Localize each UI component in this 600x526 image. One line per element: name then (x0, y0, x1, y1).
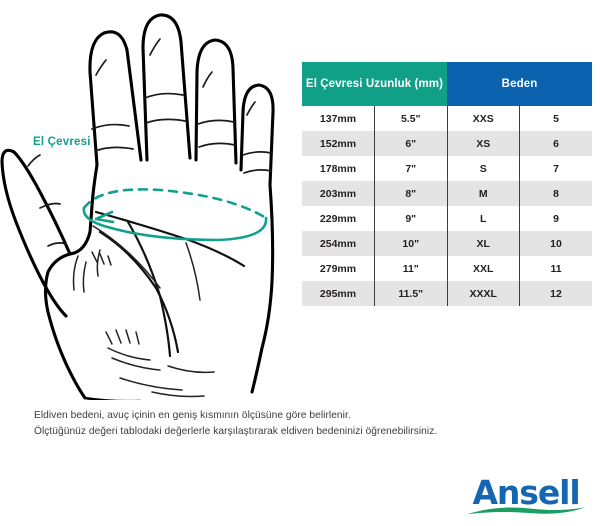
table-row: 137mm5.5"XXS5 (302, 106, 592, 131)
cell-size-letter: L (447, 206, 520, 231)
cell-circumference-mm: 279mm (302, 256, 375, 281)
cell-circumference-mm: 254mm (302, 231, 375, 256)
instructions-caption: Eldiven bedeni, avuç içinin en geniş kıs… (34, 408, 574, 440)
palm-circumference-ellipse (84, 189, 266, 240)
cell-circumference-mm: 152mm (302, 131, 375, 156)
cell-circumference-mm: 295mm (302, 281, 375, 306)
cell-size-number: 10 (520, 231, 593, 256)
hand-palm-illustration (0, 0, 292, 400)
table-row: 152mm6"XS6 (302, 131, 592, 156)
cell-size-letter: XXS (447, 106, 520, 131)
caption-line-1: Eldiven bedeni, avuç içinin en geniş kıs… (34, 408, 574, 424)
cell-circumference-mm: 137mm (302, 106, 375, 131)
cell-size-number: 6 (520, 131, 593, 156)
cell-circumference-inch: 7" (375, 156, 448, 181)
column-header-size: Beden (447, 62, 592, 106)
glove-size-chart-page: El Çevresi El Çevresi Uzunluk (mm) Beden… (0, 0, 600, 526)
cell-circumference-inch: 9" (375, 206, 448, 231)
cell-size-number: 9 (520, 206, 593, 231)
table-row: 203mm8"M8 (302, 181, 592, 206)
cell-circumference-inch: 6" (375, 131, 448, 156)
cell-size-number: 8 (520, 181, 593, 206)
table-header-row: El Çevresi Uzunluk (mm) Beden (302, 62, 592, 106)
cell-circumference-mm: 178mm (302, 156, 375, 181)
cell-circumference-inch: 11" (375, 256, 448, 281)
cell-size-letter: XXL (447, 256, 520, 281)
cell-size-letter: XL (447, 231, 520, 256)
glove-size-table: El Çevresi Uzunluk (mm) Beden 137mm5.5"X… (302, 62, 592, 306)
cell-size-letter: S (447, 156, 520, 181)
cell-circumference-inch: 10" (375, 231, 448, 256)
cell-size-letter: M (447, 181, 520, 206)
el-cevresi-callout-label: El Çevresi (33, 136, 91, 148)
cell-size-number: 11 (520, 256, 593, 281)
caption-line-2: Ölçtüğünüz değeri tablodaki değerlerle k… (34, 424, 574, 440)
table-row: 229mm9"L9 (302, 206, 592, 231)
cell-circumference-mm: 203mm (302, 181, 375, 206)
table-row: 178mm7"S7 (302, 156, 592, 181)
cell-size-letter: XXXL (447, 281, 520, 306)
table-header: El Çevresi Uzunluk (mm) Beden (302, 62, 592, 106)
table-row: 279mm11"XXL11 (302, 256, 592, 281)
hand-drawing-svg (0, 0, 292, 400)
table-row: 254mm10"XL10 (302, 231, 592, 256)
cell-circumference-inch: 8" (375, 181, 448, 206)
table-row: 295mm11.5"XXXL12 (302, 281, 592, 306)
cell-size-letter: XS (447, 131, 520, 156)
column-header-circumference: El Çevresi Uzunluk (mm) (302, 62, 447, 106)
cell-size-number: 5 (520, 106, 593, 131)
cell-circumference-inch: 11.5" (375, 281, 448, 306)
ansell-logo: Ansell (463, 476, 589, 518)
ansell-wordmark: Ansell (463, 476, 589, 509)
table-body: 137mm5.5"XXS5152mm6"XS6178mm7"S7203mm8"M… (302, 106, 592, 306)
cell-circumference-mm: 229mm (302, 206, 375, 231)
cell-size-number: 12 (520, 281, 593, 306)
cell-size-number: 7 (520, 156, 593, 181)
cell-circumference-inch: 5.5" (375, 106, 448, 131)
